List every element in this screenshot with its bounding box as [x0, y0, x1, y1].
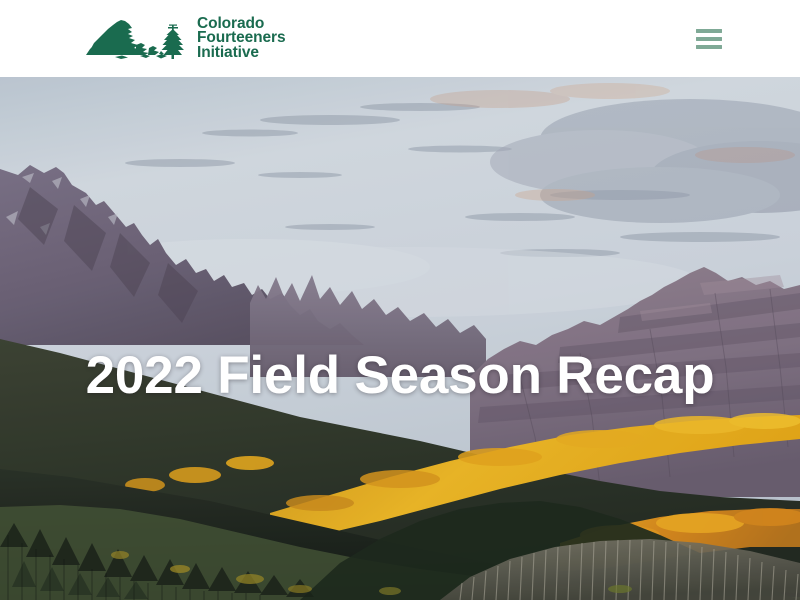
mountain-conifer-logo-icon — [86, 14, 191, 62]
header-inner: Colorado Fourteeners Initiative — [0, 0, 800, 77]
hamburger-bar-middle — [696, 37, 722, 41]
hamburger-bar-bottom — [696, 45, 722, 49]
hero-banner: 2022 Field Season Recap — [0, 77, 800, 600]
site-logo-text: Colorado Fourteeners Initiative — [197, 16, 285, 61]
page-root: Colorado Fourteeners Initiative — [0, 0, 800, 600]
site-header: Colorado Fourteeners Initiative — [0, 0, 800, 77]
hamburger-bar-top — [696, 29, 722, 33]
hero-mountain-photo — [0, 77, 800, 600]
site-logo-link[interactable]: Colorado Fourteeners Initiative — [86, 14, 285, 62]
hamburger-menu-icon[interactable] — [692, 25, 726, 53]
logo-line-initiative: Initiative — [197, 46, 285, 61]
